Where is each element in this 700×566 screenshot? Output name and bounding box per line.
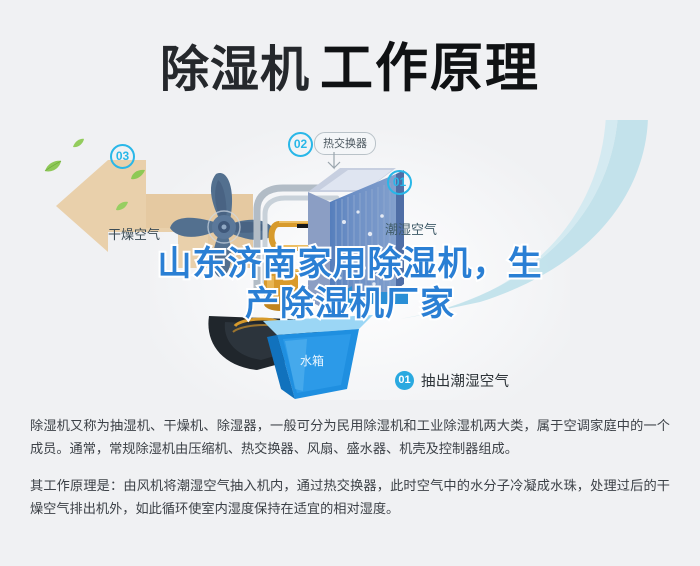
dehumidifier-diagram: 03 干燥空气 02 热交换器 01 潮湿空气 水箱 01 抽出潮湿空气 02 … [0,120,700,405]
leaf-icon [115,200,129,212]
leaf-icon [130,168,146,181]
page-title-part2: 工作原理 [320,39,540,98]
callout-badge-03: 03 [110,144,135,169]
page-title-part1: 除湿机 [160,43,310,97]
callout-label-humid-air: 潮湿空气 [385,219,437,238]
infographic-page: 除湿机工作原理 [0,0,700,566]
body-paragraph-2: 其工作原理是：由风机将潮湿空气抽入机内，通过热交换器，此时空气中的水分子冷凝成水… [30,474,670,520]
callout-badge-01: 01 [387,170,412,195]
callout-label-dry-air: 干燥空气 [108,224,160,243]
step-text-01: 抽出潮湿空气 [421,370,509,391]
water-tank-label: 水箱 [300,352,324,369]
step-badge-01: 01 [395,371,414,390]
leaf-icon [72,138,85,149]
body-copy: 除湿机又称为抽湿机、干燥机、除湿器，一般可分为民用除湿机和工业除湿机两大类，属于… [30,414,670,520]
air-inlet-arrow [330,286,408,310]
leaf-icon [44,160,62,174]
process-step-list: 01 抽出潮湿空气 02 潮湿空气经过蒸发器冷凝成水珠 03 从上部出风口吹出清… [395,370,695,405]
page-title: 除湿机工作原理 [0,26,700,102]
process-step: 01 抽出潮湿空气 [395,370,695,391]
callout-pointer-line [322,152,346,178]
body-paragraph-1: 除湿机又称为抽湿机、干燥机、除湿器，一般可分为民用除湿机和工业除湿机两大类，属于… [30,414,670,460]
callout-badge-02: 02 [288,132,313,157]
